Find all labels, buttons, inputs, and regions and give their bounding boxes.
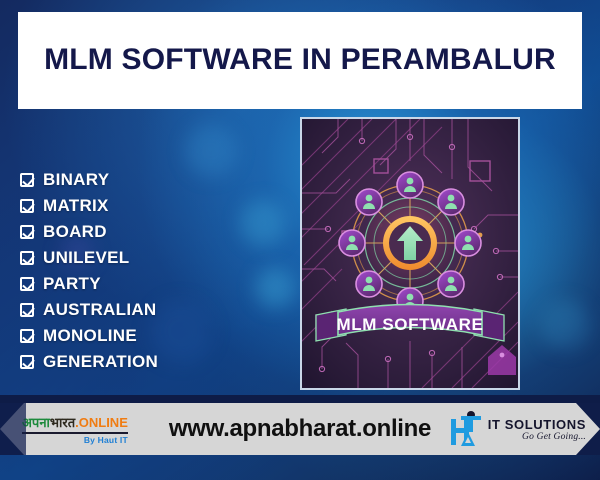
list-item: BINARY — [20, 168, 158, 191]
list-item: BOARD — [20, 220, 158, 243]
user-avatar-icon — [438, 189, 464, 215]
feature-label: MONOLINE — [43, 326, 137, 346]
feature-label: PARTY — [43, 274, 101, 294]
checkbox-checked-icon — [20, 251, 34, 265]
it-solutions-wordmark: IT SOLUTIONS Go Get Going... — [488, 417, 586, 442]
it-solutions-tagline: Go Get Going... — [488, 432, 586, 442]
promo-banner: MLM SOFTWARE IN PERAMBALUR BINARY MATRIX… — [0, 0, 600, 480]
feature-label: GENERATION — [43, 352, 158, 372]
user-avatar-icon — [397, 172, 423, 198]
bokeh-decoration — [240, 200, 286, 246]
it-solutions-logo[interactable]: IT SOLUTIONS Go Get Going... — [449, 403, 586, 455]
checkbox-checked-icon — [20, 199, 34, 213]
checkbox-checked-icon — [20, 355, 34, 369]
feature-label: BINARY — [43, 170, 109, 190]
feature-label: MATRIX — [43, 196, 109, 216]
bokeh-decoration — [150, 300, 212, 362]
mlm-software-illustration: MLM SOFTWARE — [300, 117, 520, 390]
checkbox-checked-icon — [20, 225, 34, 239]
list-item: MONOLINE — [20, 324, 158, 347]
user-avatar-icon — [455, 230, 481, 256]
checkbox-checked-icon — [20, 173, 34, 187]
ribbon-label: MLM SOFTWARE — [337, 315, 484, 334]
feature-label: UNILEVEL — [43, 248, 129, 268]
checkbox-checked-icon — [20, 329, 34, 343]
checkbox-checked-icon — [20, 303, 34, 317]
user-avatar-icon — [438, 271, 464, 297]
user-avatar-icon — [339, 230, 365, 256]
footer-bar: अपनाभारत.ONLINE By Haut IT www.apnabhara… — [0, 403, 600, 455]
feature-label: BOARD — [43, 222, 107, 242]
footer-top-strip — [0, 395, 600, 403]
user-avatar-icon — [356, 189, 382, 215]
bokeh-decoration — [185, 125, 237, 177]
it-solutions-title: IT SOLUTIONS — [488, 417, 586, 432]
circuit-network-graphic: MLM SOFTWARE — [302, 119, 518, 388]
feature-label: AUSTRALIAN — [43, 300, 157, 320]
list-item: PARTY — [20, 272, 158, 295]
bokeh-decoration — [540, 300, 590, 350]
list-item: MATRIX — [20, 194, 158, 217]
footer-notch-left — [0, 403, 24, 455]
page-title: MLM SOFTWARE IN PERAMBALUR — [32, 42, 568, 79]
list-item: GENERATION — [20, 350, 158, 373]
bokeh-decoration — [255, 268, 295, 308]
user-avatar-icon — [356, 271, 382, 297]
feature-list: BINARY MATRIX BOARD UNILEVEL PARTY AUSTR… — [20, 168, 158, 373]
it-solutions-mark-icon — [449, 410, 483, 448]
checkbox-checked-icon — [20, 277, 34, 291]
list-item: UNILEVEL — [20, 246, 158, 269]
list-item: AUSTRALIAN — [20, 298, 158, 321]
title-box: MLM SOFTWARE IN PERAMBALUR — [18, 12, 582, 109]
